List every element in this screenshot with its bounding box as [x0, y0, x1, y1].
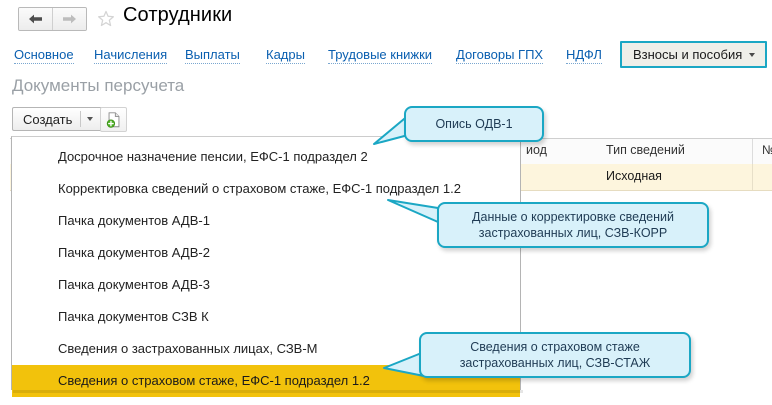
menu-item-pachka-adv-3[interactable]: Пачка документов АДВ-3: [12, 269, 520, 301]
create-button-label: Создать: [23, 112, 72, 127]
button-separator: [80, 111, 81, 127]
star-outline-icon: [97, 10, 115, 28]
menu-item-pachka-szv-k[interactable]: Пачка документов СЗВ К: [12, 301, 520, 333]
navigation-buttons: [18, 7, 87, 31]
menu-item-dosrochnoe-naznachenie[interactable]: Досрочное назначение пенсии, ЕФС-1 подра…: [12, 141, 520, 173]
cell-divider: [752, 164, 753, 190]
column-header-type[interactable]: Тип сведений: [606, 143, 685, 157]
tab-vyplaty[interactable]: Выплаты: [185, 47, 240, 64]
favorite-button[interactable]: [97, 10, 115, 28]
callout-text: Сведения о страховом стаже застрахованны…: [431, 339, 679, 371]
header-divider: [752, 139, 753, 164]
section-title: Документы персучета: [12, 76, 184, 96]
forward-button[interactable]: [52, 8, 86, 30]
tab-trudovye-knizhki[interactable]: Трудовые книжки: [328, 47, 432, 64]
tab-strip: Основное Начисления Выплаты Кадры Трудов…: [0, 42, 772, 73]
tab-ndfl[interactable]: НДФЛ: [566, 47, 602, 64]
new-document-button[interactable]: [100, 107, 127, 132]
tab-kadry[interactable]: Кадры: [266, 47, 305, 64]
back-button[interactable]: [19, 8, 52, 30]
cell-type: Исходная: [606, 169, 662, 183]
document-add-icon: [105, 111, 123, 129]
callout-szv-staj: Сведения о страховом стаже застрахованны…: [419, 332, 691, 378]
callout-text: Опись ОДВ-1: [435, 116, 512, 132]
column-header-period[interactable]: иод: [526, 143, 547, 157]
tab-osnovnoe[interactable]: Основное: [14, 47, 74, 64]
chevron-down-icon: [749, 53, 755, 57]
callout-text: Данные о корректировке сведений застрахо…: [449, 209, 697, 241]
caret-down-icon: [87, 117, 93, 121]
create-button[interactable]: Создать: [12, 107, 102, 131]
arrow-left-icon: [28, 13, 43, 25]
column-header-number[interactable]: №: [762, 143, 772, 157]
callout-szv-korr: Данные о корректировке сведений застрахо…: [437, 202, 709, 248]
tab-nachisleniya[interactable]: Начисления: [94, 47, 167, 64]
tab-dogovory-gph[interactable]: Договоры ГПХ: [456, 47, 543, 64]
tab-vznosy-i-posobiya[interactable]: Взносы и пособия: [620, 41, 767, 68]
title-bar: Сотрудники: [0, 0, 772, 38]
menu-shadow: [13, 390, 523, 393]
page-title: Сотрудники: [123, 4, 232, 27]
tab-vznosy-label: Взносы и пособия: [633, 47, 742, 62]
arrow-right-icon: [62, 13, 77, 25]
callout-opis-odv-1: Опись ОДВ-1: [404, 106, 544, 142]
